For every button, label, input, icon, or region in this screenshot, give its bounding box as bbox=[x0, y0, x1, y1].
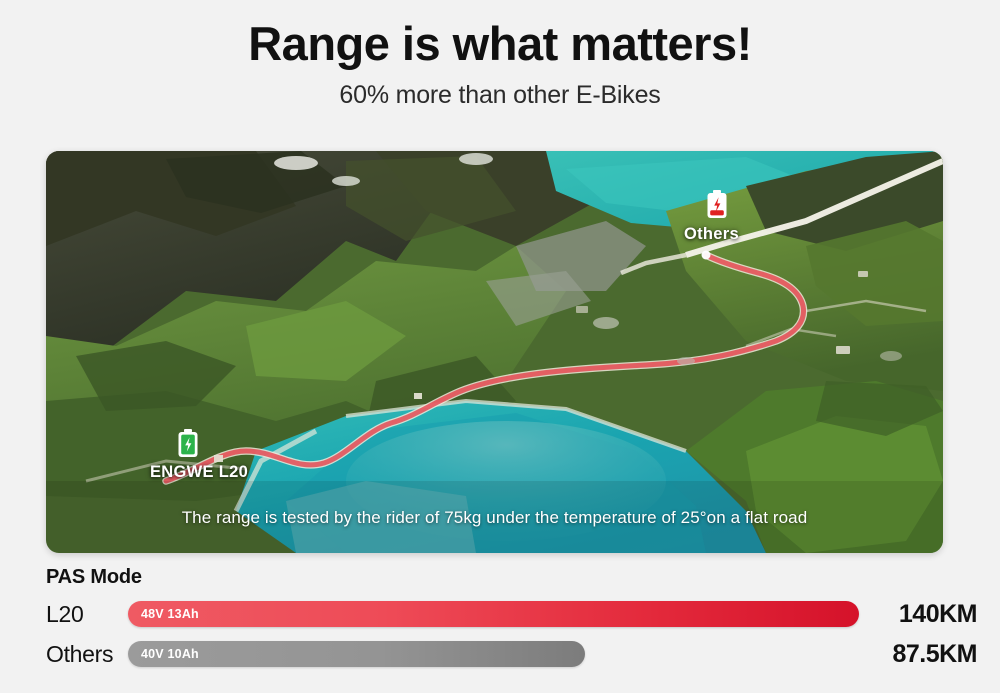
chart-row-l20: L20 48V 13Ah 140KM bbox=[46, 599, 977, 629]
chart-track-l20: 48V 13Ah bbox=[128, 601, 859, 627]
chart-value-others: 87.5KM bbox=[859, 640, 977, 669]
chart-row-label-l20: L20 bbox=[46, 603, 128, 626]
chart-row-others: Others 40V 10Ah 87.5KM bbox=[46, 639, 977, 669]
chart-title: PAS Mode bbox=[46, 566, 977, 589]
chart-bar-tag-l20: 48V 13Ah bbox=[128, 607, 199, 621]
chart-row-label-others: Others bbox=[46, 643, 128, 666]
chart-bar-others: 40V 10Ah bbox=[128, 641, 585, 667]
route-map: ENGWE L20 Others The range is tested by … bbox=[46, 151, 943, 553]
map-illustration bbox=[46, 151, 943, 553]
chart-bar-l20: 48V 13Ah bbox=[128, 601, 859, 627]
page-title: Range is what matters! bbox=[0, 18, 1000, 71]
chart-value-l20: 140KM bbox=[859, 600, 977, 629]
page-header: Range is what matters! 60% more than oth… bbox=[0, 0, 1000, 110]
page-subtitle: 60% more than other E-Bikes bbox=[0, 81, 1000, 110]
pas-mode-chart: PAS Mode L20 48V 13Ah 140KM Others 40V 1… bbox=[46, 566, 977, 669]
map-imagery bbox=[46, 151, 943, 553]
chart-track-others: 40V 10Ah bbox=[128, 641, 859, 667]
chart-bar-tag-others: 40V 10Ah bbox=[128, 647, 199, 661]
